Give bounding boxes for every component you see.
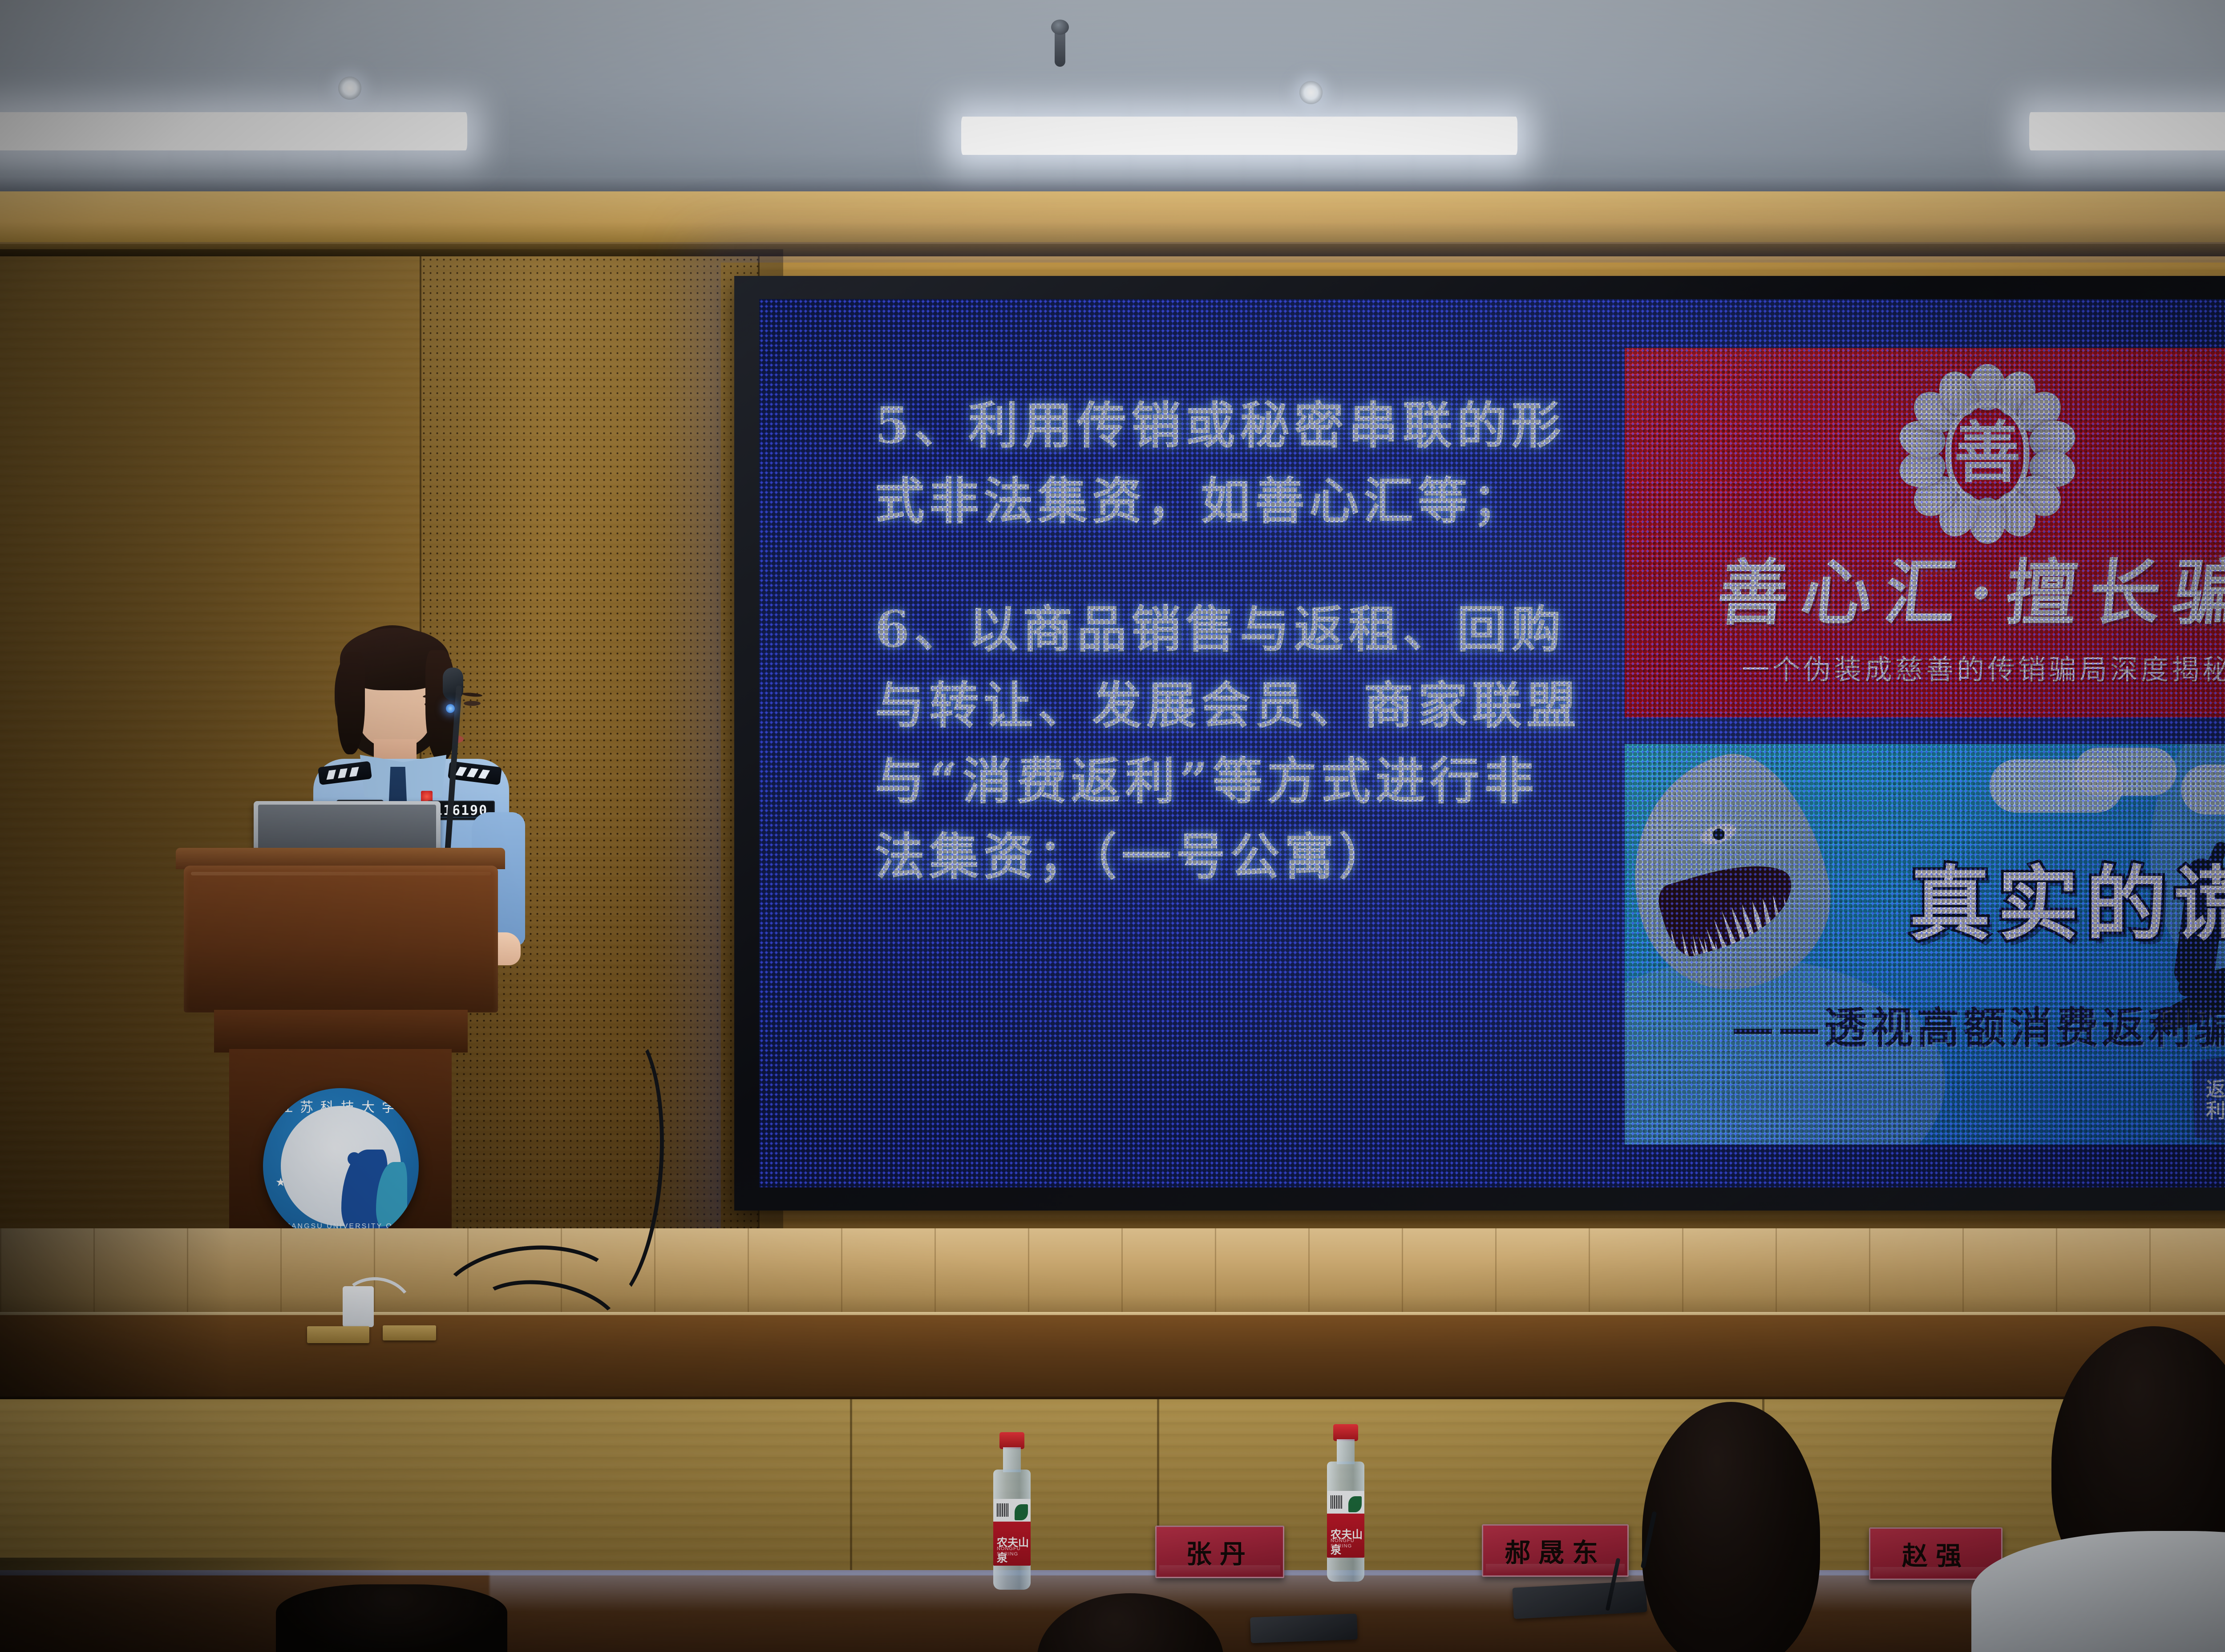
emblem-bead bbox=[1906, 384, 1965, 441]
emblem-core-ring bbox=[1946, 401, 2029, 507]
emblem-bead bbox=[1932, 486, 1985, 543]
ceiling-light-panel-3 bbox=[2029, 112, 2225, 150]
emblem-bead-ring bbox=[1898, 365, 2076, 543]
emblem-bead bbox=[1969, 364, 2006, 410]
speaker-eye-right bbox=[464, 701, 481, 706]
shark-teeth bbox=[1665, 890, 1804, 962]
podium-midsection bbox=[214, 1010, 468, 1053]
slide-item-6: 6、以商品销售与返租、回购 与转让、发展会员、商家联盟 与“消费返利”等方式进行… bbox=[875, 592, 1605, 895]
nameplate-1: 张丹 bbox=[1155, 1526, 1284, 1578]
podium-front-panel bbox=[184, 866, 498, 1012]
nameplate-3-name: 赵强 bbox=[1902, 1535, 1970, 1572]
ceiling-light-panel-1 bbox=[0, 112, 467, 150]
shark-eye bbox=[1698, 820, 1739, 848]
lecture-hall-scene: 5、利用传销或秘密串联的形 式非法集资，如善心汇等； 6、以商品销售与返租、回购… bbox=[0, 0, 2225, 1652]
floor-socket-2 bbox=[383, 1325, 436, 1340]
poster-blue-title: 真实的谎言 bbox=[1909, 863, 2225, 944]
nameplate-1-name: 张丹 bbox=[1186, 1533, 1254, 1571]
bottle-neck-2 bbox=[1337, 1439, 1355, 1464]
phone-on-table[interactable] bbox=[1250, 1614, 1358, 1643]
bottle-barcode-1 bbox=[997, 1503, 1009, 1517]
bottle-brand-en-2: NONGFU SPRING bbox=[1331, 1538, 1364, 1549]
cloud-2 bbox=[2074, 748, 2176, 796]
wall-beam-shadow bbox=[0, 244, 2225, 256]
slide-item-6-line-2: 与转让、发展会员、商家联盟 bbox=[875, 668, 1605, 744]
fg-wall-seam-1 bbox=[850, 1399, 852, 1586]
rebate-flag-2-label: 返利 bbox=[2199, 1079, 2225, 1122]
nameplate-2: 郝晟东 bbox=[1482, 1524, 1629, 1577]
slide-item-5-line-2: 式非法集资，如善心汇等； bbox=[875, 464, 1605, 539]
downlight-1 bbox=[338, 77, 361, 100]
surfer-silhouette-icon bbox=[2154, 822, 2225, 1036]
emblem-bead bbox=[2026, 446, 2079, 492]
cloud-1 bbox=[1990, 759, 2123, 813]
surfboard bbox=[2149, 970, 2225, 1039]
slide-item-6-line-1: 6、以商品销售与返租、回购 bbox=[875, 592, 1605, 668]
floor-socket-1 bbox=[307, 1326, 369, 1343]
university-emblem-inner-disc: 1933 bbox=[281, 1106, 401, 1226]
slide-item-6-line-4: 法集资；（一号公寓） bbox=[875, 819, 1605, 895]
emblem-bead bbox=[1969, 498, 2006, 544]
surfer-torso bbox=[2172, 873, 2225, 989]
university-emblem: 江苏科技大学 ★ ★ 1933 JIANGSU UNIVERSITY OF SC… bbox=[263, 1088, 419, 1244]
downlight-2 bbox=[1299, 81, 1323, 104]
poster-red-subtitle: 一个伪装成慈善的传销骗局深度揭秘 bbox=[1625, 647, 2225, 687]
table-left-shadow bbox=[0, 1558, 400, 1652]
bottle-cap-1 bbox=[999, 1432, 1024, 1449]
speaker-hair-side-left bbox=[337, 652, 365, 754]
cloud-3 bbox=[2181, 765, 2225, 814]
shark-mouth bbox=[1654, 852, 1803, 961]
poster-blue-subtitle: ——透视高额消费返利骗局 bbox=[1731, 993, 2225, 1055]
bottle-label-2: 农夫山泉 NONGFU SPRING bbox=[1327, 1491, 1364, 1558]
microphone-led-indicator bbox=[446, 704, 455, 713]
surfer-head bbox=[2187, 858, 2216, 887]
bottle-brand-en-1: NONGFU SPRING bbox=[997, 1546, 1031, 1557]
surfer-arm bbox=[2192, 840, 2225, 902]
wall-top-beam bbox=[0, 191, 2225, 245]
emblem-bead bbox=[2010, 467, 2069, 524]
poster-true-lies: 返利 返利 真实的谎言 ——透视高额消费返利骗局 bbox=[1625, 744, 2225, 1145]
poster-shanxinhui: 善 善心汇·擅长骗 一个伪装成慈善的传销骗局深度揭秘 bbox=[1625, 348, 2225, 717]
rebate-flag-2: 返利 bbox=[2192, 1056, 2225, 1145]
bottle-barcode-2 bbox=[1331, 1495, 1343, 1509]
table-reflection bbox=[489, 1572, 2091, 1612]
led-screen[interactable]: 5、利用传销或秘密串联的形 式非法集资，如善心汇等； 6、以商品销售与返租、回购… bbox=[759, 299, 2225, 1187]
bottle-neck-1 bbox=[1003, 1447, 1021, 1472]
emblem-bead bbox=[1896, 416, 1949, 462]
ceiling-light-panel-2 bbox=[961, 117, 1517, 155]
power-adapter bbox=[343, 1286, 374, 1327]
emblem-bead bbox=[1990, 365, 2043, 422]
emblem-bead bbox=[1932, 365, 1985, 422]
slide-item-5-line-1: 5、利用传销或秘密串联的形 bbox=[875, 388, 1605, 464]
emblem-glyph: 善 bbox=[1954, 419, 2021, 486]
speaker-brow-right bbox=[462, 692, 483, 697]
shanxinhui-emblem-icon: 善 bbox=[1898, 365, 2076, 543]
slide-item-6-line-3: 与“消费返利”等方式进行非 bbox=[875, 744, 1605, 819]
surfer-leg bbox=[2176, 966, 2225, 999]
bottle-label-1: 农夫山泉 NONGFU SPRING bbox=[993, 1499, 1031, 1566]
ceiling bbox=[0, 0, 2225, 196]
slide-text-column: 5、利用传销或秘密串联的形 式非法集资，如善心汇等； 6、以商品销售与返租、回购… bbox=[875, 388, 1605, 895]
bottle-cap-2 bbox=[1333, 1424, 1358, 1441]
stage-plank-lines bbox=[0, 1228, 2225, 1317]
stage-left-shadow bbox=[0, 1228, 231, 1415]
slide-item-5: 5、利用传销或秘密串联的形 式非法集资，如善心汇等； bbox=[875, 388, 1605, 539]
nameplate-2-name: 郝晟东 bbox=[1505, 1532, 1606, 1569]
emblem-bead bbox=[1990, 486, 2043, 543]
shark-body bbox=[1625, 744, 1849, 1008]
shark-icon bbox=[1633, 757, 1842, 1007]
wave-shape-2 bbox=[2150, 744, 2225, 1020]
wave-shape-1 bbox=[1625, 958, 1945, 1145]
stage-floor bbox=[0, 1228, 2225, 1317]
emblem-bead bbox=[1906, 467, 1965, 524]
bottle-mountain-graphic-2 bbox=[1348, 1496, 1362, 1512]
emblem-bead bbox=[2010, 384, 2069, 441]
poster-red-title: 善心汇·擅长骗 bbox=[1625, 557, 2225, 628]
sprinkler-head bbox=[1055, 27, 1065, 67]
bottle-mountain-graphic-1 bbox=[1015, 1504, 1028, 1520]
emblem-bead bbox=[2026, 416, 2079, 462]
emblem-bead bbox=[1896, 446, 1949, 492]
